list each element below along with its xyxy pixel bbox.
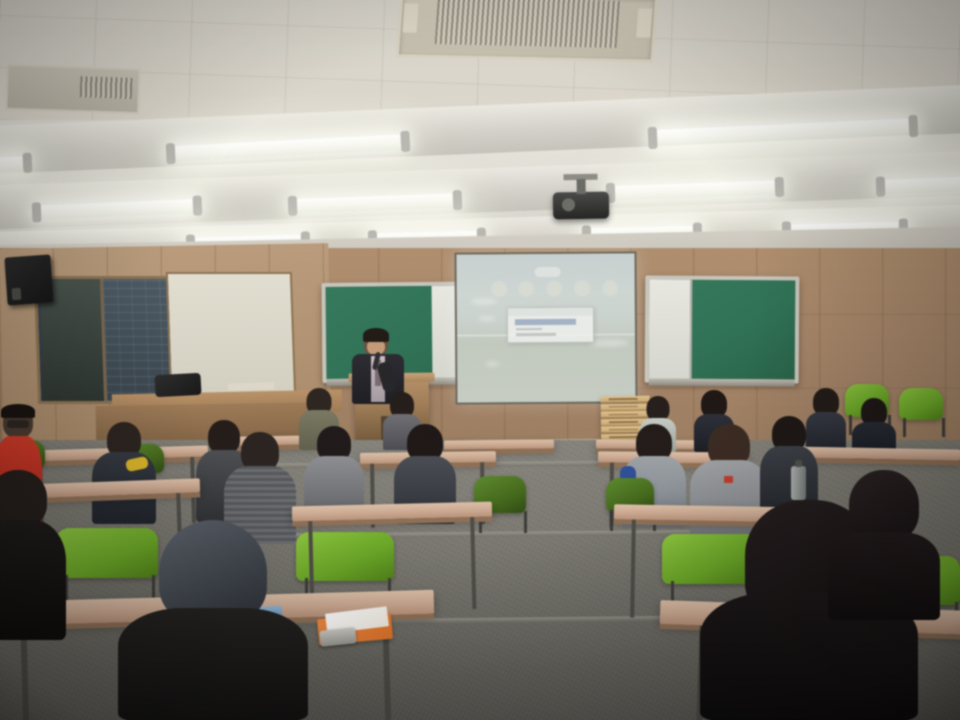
student-yellow-hood [92,422,156,524]
ac-vent-icon [396,0,659,63]
fluorescent-tube [880,176,960,193]
projection-screen [454,251,637,404]
ceiling-grille-icon [5,64,141,115]
wall-speaker-icon [4,254,53,305]
chalkboard-right [645,275,800,383]
ceiling [0,0,960,250]
equipment-box [154,373,201,397]
student-desk [444,439,554,449]
fluorescent-tube [0,156,28,172]
student-left-dark [0,470,66,640]
projected-dialog-window [507,307,595,344]
student-beanie [118,520,308,720]
student-right-dark [828,470,940,620]
lecture-hall-photo [0,0,960,720]
ceiling-projector-icon [553,192,609,220]
water-bottle [791,466,806,500]
spare-chair [899,388,943,436]
